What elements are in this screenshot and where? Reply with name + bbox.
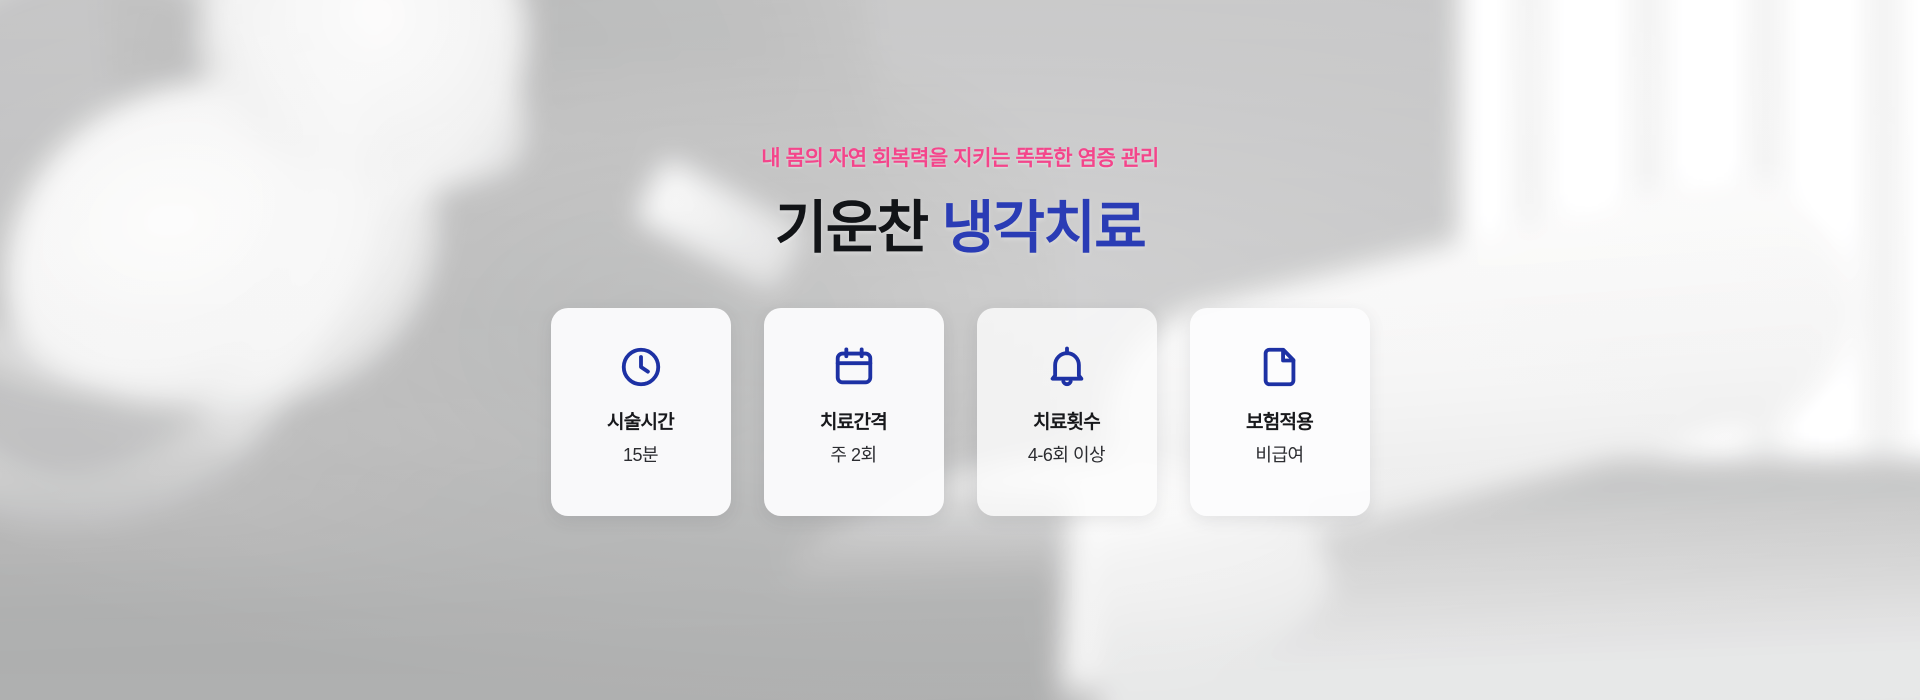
bell-icon [1044, 344, 1090, 390]
info-card-treatment-count[interactable]: 치료횟수 4-6회 이상 [977, 308, 1157, 516]
hero-content: 내 몸의 자연 회복력을 지키는 똑똑한 염증 관리 기운찬 냉각치료 시술시간… [0, 0, 1920, 700]
info-card-treatment-interval[interactable]: 치료간격 주 2회 [764, 308, 944, 516]
info-card-label: 치료횟수 [1033, 413, 1100, 432]
calendar-icon [831, 344, 877, 390]
info-card-treatment-time[interactable]: 시술시간 15분 [551, 308, 731, 516]
hero-eyebrow: 내 몸의 자연 회복력을 지키는 똑똑한 염증 관리 [761, 148, 1159, 169]
info-card-label: 치료간격 [820, 413, 887, 432]
info-card-value: 4-6회 이상 [1028, 446, 1105, 464]
page-title: 기운찬 냉각치료 [775, 196, 1145, 262]
hero-section: 내 몸의 자연 회복력을 지키는 똑똑한 염증 관리 기운찬 냉각치료 시술시간… [0, 0, 1920, 700]
info-card-value: 비급여 [1255, 446, 1303, 464]
info-card-label: 시술시간 [607, 413, 674, 432]
clock-icon [618, 344, 664, 390]
info-card-insurance[interactable]: 보험적용 비급여 [1190, 308, 1370, 516]
document-icon [1257, 344, 1303, 390]
info-card-value: 15분 [623, 446, 658, 464]
info-card-label: 보험적용 [1246, 413, 1313, 432]
info-card-list: 시술시간 15분 치료간격 주 2회 [551, 308, 1370, 516]
page-title-accent: 냉각치료 [942, 196, 1145, 260]
page-title-primary: 기운찬 [775, 196, 928, 260]
info-card-value: 주 2회 [830, 446, 876, 464]
